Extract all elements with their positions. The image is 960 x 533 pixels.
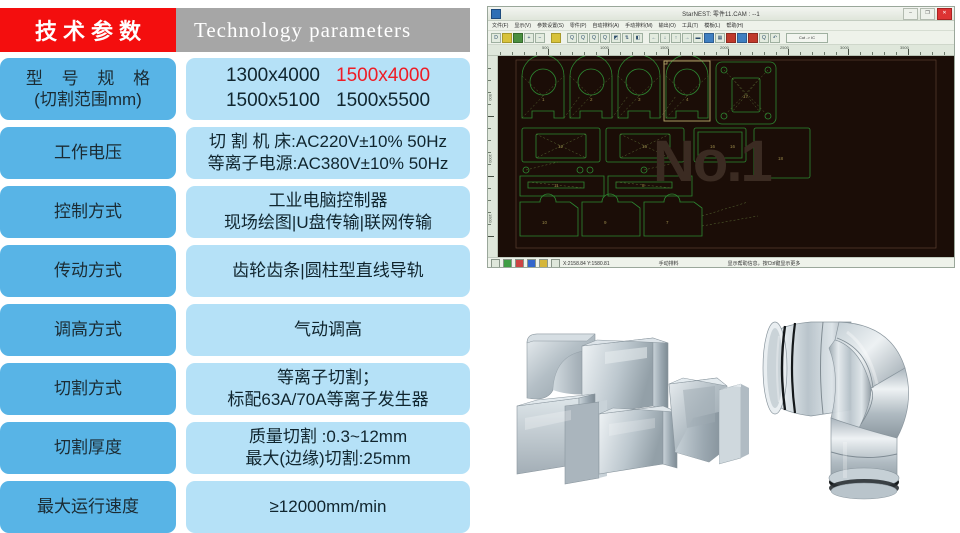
model-1500x5100: 1500x5100 <box>226 89 320 114</box>
new-icon[interactable]: D <box>491 33 501 43</box>
spec-header: 技术参数 Technology parameters <box>0 8 470 52</box>
ruler-label-1000: 1000 <box>600 45 609 50</box>
part-number-8: 8 <box>642 183 645 188</box>
row-label-model-l2: (切割范围mm) <box>34 90 142 109</box>
cad-software-screenshot: StarNEST: 零件11.CAM : --1 – ❐ ✕ 文件(F) 显示(… <box>487 6 955 268</box>
part-number-18: 18 <box>778 156 784 161</box>
menu-auto-nest[interactable]: 自动排料(A) <box>592 22 619 29</box>
control-controller: 工业电脑控制器 <box>269 190 388 212</box>
row-label-model-l1: 型 号 规 格 <box>19 68 157 89</box>
table-row: 工作电压 切 割 机 床:AC220V±10% 50Hz 等离子电源:AC380… <box>0 127 470 179</box>
row-label-control: 控制方式 <box>0 186 176 238</box>
table-row: 最大运行速度 ≥12000mm/min <box>0 481 470 533</box>
window-controls: – ❐ ✕ <box>903 8 952 20</box>
model-1500x4000-highlight: 1500x4000 <box>336 64 430 89</box>
row-value-max-speed: ≥12000mm/min <box>186 481 470 533</box>
save-icon[interactable] <box>513 33 523 43</box>
part-number-11: 11 <box>554 183 559 188</box>
multi-icon[interactable] <box>748 33 758 43</box>
move-right-icon[interactable]: → <box>682 33 692 43</box>
menu-manual-nest[interactable]: 手动排料(M) <box>625 22 653 29</box>
part-number-10: 10 <box>542 220 548 225</box>
nesting-canvas[interactable]: No.1 <box>498 56 954 257</box>
status-coordinates: X:2158.84 Y:1580.81 <box>563 261 610 267</box>
toolbar-separator <box>781 33 785 43</box>
row-value-model: 1300x4000 1500x4000 1500x5100 1500x5500 <box>186 58 470 120</box>
ruler-label-3500: 3500 <box>900 45 909 50</box>
menu-file[interactable]: 文件(F) <box>492 22 508 29</box>
menu-tools[interactable]: 工具(T) <box>682 22 698 29</box>
status-icon-ortho[interactable] <box>527 259 536 268</box>
part-number-12: 12 <box>558 144 564 149</box>
align-icon[interactable]: ▬ <box>693 33 703 43</box>
transmission-text: 齿轮齿条|圆柱型直线导轨 <box>232 260 423 282</box>
row-label-max-speed: 最大运行速度 <box>0 481 176 533</box>
sheet-icon[interactable] <box>737 33 747 43</box>
page-title-cn: 技术参数 <box>0 8 176 52</box>
move-up-icon[interactable]: ↑ <box>671 33 681 43</box>
nest-icon[interactable] <box>726 33 736 43</box>
minimize-icon[interactable]: – <box>903 8 918 20</box>
toolbar-separator <box>644 33 648 43</box>
menu-template[interactable]: 模板(L) <box>704 22 720 29</box>
part-number-3: 3 <box>638 97 641 102</box>
table-row: 型 号 规 格 (切割范围mm) 1300x4000 1500x4000 150… <box>0 58 470 120</box>
zoom-window-icon[interactable]: Q <box>600 33 610 43</box>
spec-table: 技术参数 Technology parameters 型 号 规 格 (切割范围… <box>0 0 470 524</box>
cad-title-bar: StarNEST: 零件11.CAM : --1 – ❐ ✕ <box>488 7 954 21</box>
grid-icon[interactable] <box>551 33 561 43</box>
status-icon-zoom[interactable] <box>551 259 560 268</box>
close-icon[interactable]: ✕ <box>937 8 952 20</box>
status-icon-grid[interactable] <box>503 259 512 268</box>
status-icon-layer[interactable] <box>539 259 548 268</box>
open-icon[interactable] <box>502 33 512 43</box>
part-number-15: 15 <box>642 144 648 149</box>
toolbar-separator <box>546 33 550 43</box>
maximize-icon[interactable]: ❐ <box>920 8 935 20</box>
row-value-thickness: 质量切割 :0.3~12mm 最大(边缘)切割:25mm <box>186 422 470 474</box>
part-number-9: 9 <box>604 220 607 225</box>
table-row: 切割方式 等离子切割； 标配63A/70A等离子发生器 <box>0 363 470 415</box>
move-down-icon[interactable]: ↓ <box>660 33 670 43</box>
row-label-height-adjust: 调高方式 <box>0 304 176 356</box>
row-value-cutting-mode: 等离子切割； 标配63A/70A等离子发生器 <box>186 363 470 415</box>
status-icon-1[interactable] <box>491 259 500 268</box>
ruler-label-2500: 2500 <box>780 45 789 50</box>
status-mode: 手动排料 <box>659 260 679 267</box>
control-transfer: 现场绘图|U盘传输|联网传输 <box>224 212 432 234</box>
product-photos <box>487 292 957 520</box>
cut-mode-combo[interactable]: Cut -> IC <box>786 33 828 43</box>
slide-root: 技术参数 Technology parameters 型 号 规 格 (切割范围… <box>0 0 960 524</box>
array-icon[interactable]: ⇅ <box>622 33 632 43</box>
row-value-height-adjust: 气动调高 <box>186 304 470 356</box>
max-speed-text: ≥12000mm/min <box>269 496 386 518</box>
row-value-control: 工业电脑控制器 现场绘图|U盘传输|联网传输 <box>186 186 470 238</box>
voltage-plasma: 等离子电源:AC380V±10% 50Hz <box>208 153 449 175</box>
cad-toolbar: D + − Q Q Q Q ◩ ⇅ ◧ ← ↓ ↑ → ▬ ▦ Q <box>488 31 954 45</box>
vruler-label-500: 500 <box>488 94 493 101</box>
vruler-label-1500: 1500 <box>488 214 493 223</box>
part-number-4: 4 <box>686 97 689 102</box>
rotate-icon[interactable] <box>704 33 714 43</box>
menu-part[interactable]: 零件(P) <box>570 22 587 29</box>
thickness-quality: 质量切割 :0.3~12mm <box>249 426 407 448</box>
table-row: 控制方式 工业电脑控制器 现场绘图|U盘传输|联网传输 <box>0 186 470 238</box>
menu-view[interactable]: 显示(V) <box>514 22 531 29</box>
row-label-thickness: 切割厚度 <box>0 422 176 474</box>
matrix-icon[interactable]: ▦ <box>715 33 725 43</box>
row-label-model: 型 号 规 格 (切割范围mm) <box>0 58 176 120</box>
row-value-voltage: 切 割 机 床:AC220V±10% 50Hz 等离子电源:AC380V±10%… <box>186 127 470 179</box>
cutting-mode-l2: 标配63A/70A等离子发生器 <box>227 389 428 411</box>
measure-icon[interactable]: Q <box>759 33 769 43</box>
toolbar-separator <box>562 33 566 43</box>
row-label-cutting-mode: 切割方式 <box>0 363 176 415</box>
select-icon[interactable]: ◩ <box>611 33 621 43</box>
zoom-in-icon[interactable]: Q <box>567 33 577 43</box>
part-number-7: 7 <box>666 220 669 225</box>
thickness-max: 最大(边缘)切割:25mm <box>245 448 410 470</box>
row-label-transmission: 传动方式 <box>0 245 176 297</box>
mirror-icon[interactable]: ◧ <box>633 33 643 43</box>
cad-drawing-area[interactable]: 500 1000 1500 No.1 <box>488 56 954 257</box>
height-adjust-text: 气动调高 <box>294 319 362 341</box>
part-number-17: 17 <box>743 94 749 99</box>
cad-window-title: StarNEST: 零件11.CAM : --1 <box>488 9 954 18</box>
menu-settings[interactable]: 参数设置(S) <box>537 22 564 29</box>
move-left-icon[interactable]: ← <box>649 33 659 43</box>
part-number-2: 2 <box>590 97 593 102</box>
ruler-label-1500: 1500 <box>660 45 669 50</box>
vertical-ruler[interactable]: 500 1000 1500 <box>488 56 498 257</box>
remove-icon[interactable]: − <box>535 33 545 43</box>
status-hint: 显示帮助信息，按Ctrl键显示更多 <box>728 260 801 267</box>
zoom-out-icon[interactable]: Q <box>578 33 588 43</box>
cutting-mode-l1: 等离子切割； <box>277 367 379 389</box>
undo-icon[interactable]: ↶ <box>770 33 780 43</box>
ruler-label-500: 500 <box>542 45 549 50</box>
add-icon[interactable]: + <box>524 33 534 43</box>
horizontal-ruler[interactable]: 500 1000 1500 2000 2500 3000 3500 <box>488 45 954 56</box>
menu-help[interactable]: 帮助(H) <box>726 22 743 29</box>
row-label-voltage: 工作电压 <box>0 127 176 179</box>
page-title-en: Technology parameters <box>176 8 470 52</box>
cad-menu-bar: 文件(F) 显示(V) 参数设置(S) 零件(P) 自动排料(A) 手动排料(M… <box>488 21 954 31</box>
model-1500x5500: 1500x5500 <box>336 89 430 114</box>
table-row: 传动方式 齿轮齿条|圆柱型直线导轨 <box>0 245 470 297</box>
table-row: 切割厚度 质量切割 :0.3~12mm 最大(边缘)切割:25mm <box>0 422 470 474</box>
table-row: 调高方式 气动调高 <box>0 304 470 356</box>
row-value-transmission: 齿轮齿条|圆柱型直线导轨 <box>186 245 470 297</box>
watermark-text: No.1 <box>653 128 771 195</box>
part-number-1: 1 <box>542 97 545 102</box>
zoom-fit-icon[interactable]: Q <box>589 33 599 43</box>
voltage-machine: 切 割 机 床:AC220V±10% 50Hz <box>209 131 447 153</box>
ruler-label-3000: 3000 <box>840 45 849 50</box>
cad-status-bar: X:2158.84 Y:1580.81 手动排料 显示帮助信息，按Ctrl键显示… <box>488 257 954 268</box>
round-elbow-photo <box>719 292 957 518</box>
model-1300x4000: 1300x4000 <box>226 64 320 89</box>
vruler-label-1000: 1000 <box>488 154 493 163</box>
menu-output[interactable]: 输出(O) <box>659 22 676 29</box>
duct-fittings-photo <box>487 298 731 514</box>
status-icon-snap[interactable] <box>515 259 524 268</box>
ruler-label-2000: 2000 <box>720 45 729 50</box>
